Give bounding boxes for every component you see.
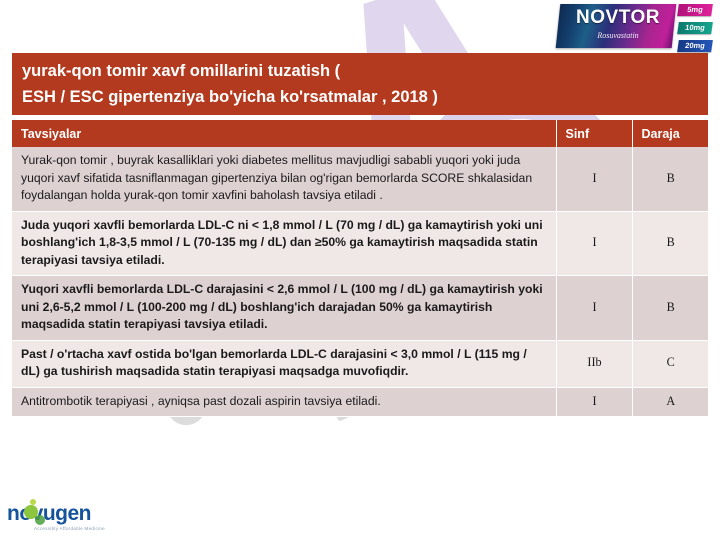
- novugen-tagline: Accessibly Affordable Medicine: [34, 526, 105, 531]
- novtor-subtitle: Rosuvastatin: [562, 31, 674, 40]
- cell-grade: A: [632, 387, 708, 417]
- cell-class: I: [556, 276, 632, 341]
- novugen-logo: novugen Accessibly Affordable Medicine: [4, 498, 126, 538]
- slide-canvas: NOVTOR Rosuvastatin 5mg 10mg 20mg yurak-…: [0, 0, 720, 540]
- table-row: Yurak-qon tomir , buyrak kasalliklari yo…: [12, 147, 708, 211]
- cell-class: I: [556, 387, 632, 417]
- novugen-wordmark: novugen: [7, 502, 91, 526]
- dose-badges: 5mg 10mg 20mg: [678, 2, 716, 54]
- cell-recommendation: Yuqori xavfli bemorlarda LDL-C darajasin…: [12, 276, 556, 341]
- dose-badge-20mg: 20mg: [677, 40, 713, 52]
- dose-badge-10mg: 10mg: [677, 22, 713, 34]
- cell-grade: B: [632, 147, 708, 211]
- novtor-brand-name: NOVTOR: [562, 7, 674, 29]
- slide-title-line-2: ESH / ESC gipertenziya bo'yicha ko'rsatm…: [22, 84, 708, 110]
- slide-title-banner: yurak-qon tomir xavf omillarini tuzatish…: [12, 53, 708, 115]
- cell-class: I: [556, 147, 632, 211]
- column-header-recommendations: Tavsiyalar: [12, 120, 556, 147]
- recommendations-table: Tavsiyalar Sinf Daraja Yurak-qon tomir ,…: [12, 120, 708, 417]
- table-header-row: Tavsiyalar Sinf Daraja: [12, 120, 708, 147]
- table-row: Antitrombotik terapiyasi , ayniqsa past …: [12, 387, 708, 417]
- cell-recommendation: Juda yuqori xavfli bemorlarda LDL-C ni <…: [12, 211, 556, 276]
- cell-recommendation: Yurak-qon tomir , buyrak kasalliklari yo…: [12, 147, 556, 211]
- table-row: Yuqori xavfli bemorlarda LDL-C darajasin…: [12, 276, 708, 341]
- novtor-logo: NOVTOR Rosuvastatin 5mg 10mg 20mg: [558, 2, 718, 54]
- cell-grade: B: [632, 276, 708, 341]
- cell-grade: B: [632, 211, 708, 276]
- novugen-small-dot-icon: [30, 499, 36, 505]
- novugen-dot-icon: [35, 515, 45, 525]
- cell-recommendation: Antitrombotik terapiyasi , ayniqsa past …: [12, 387, 556, 417]
- table-body: Yurak-qon tomir , buyrak kasalliklari yo…: [12, 147, 708, 417]
- table-row: Juda yuqori xavfli bemorlarda LDL-C ni <…: [12, 211, 708, 276]
- table-row: Past / o'rtacha xavf ostida bo'lgan bemo…: [12, 340, 708, 387]
- dose-badge-5mg: 5mg: [677, 4, 713, 16]
- cell-class: I: [556, 211, 632, 276]
- cell-recommendation: Past / o'rtacha xavf ostida bo'lgan bemo…: [12, 340, 556, 387]
- column-header-class: Sinf: [556, 120, 632, 147]
- cell-class: IIb: [556, 340, 632, 387]
- cell-grade: C: [632, 340, 708, 387]
- slide-title-line-1: yurak-qon tomir xavf omillarini tuzatish…: [22, 58, 708, 84]
- column-header-grade: Daraja: [632, 120, 708, 147]
